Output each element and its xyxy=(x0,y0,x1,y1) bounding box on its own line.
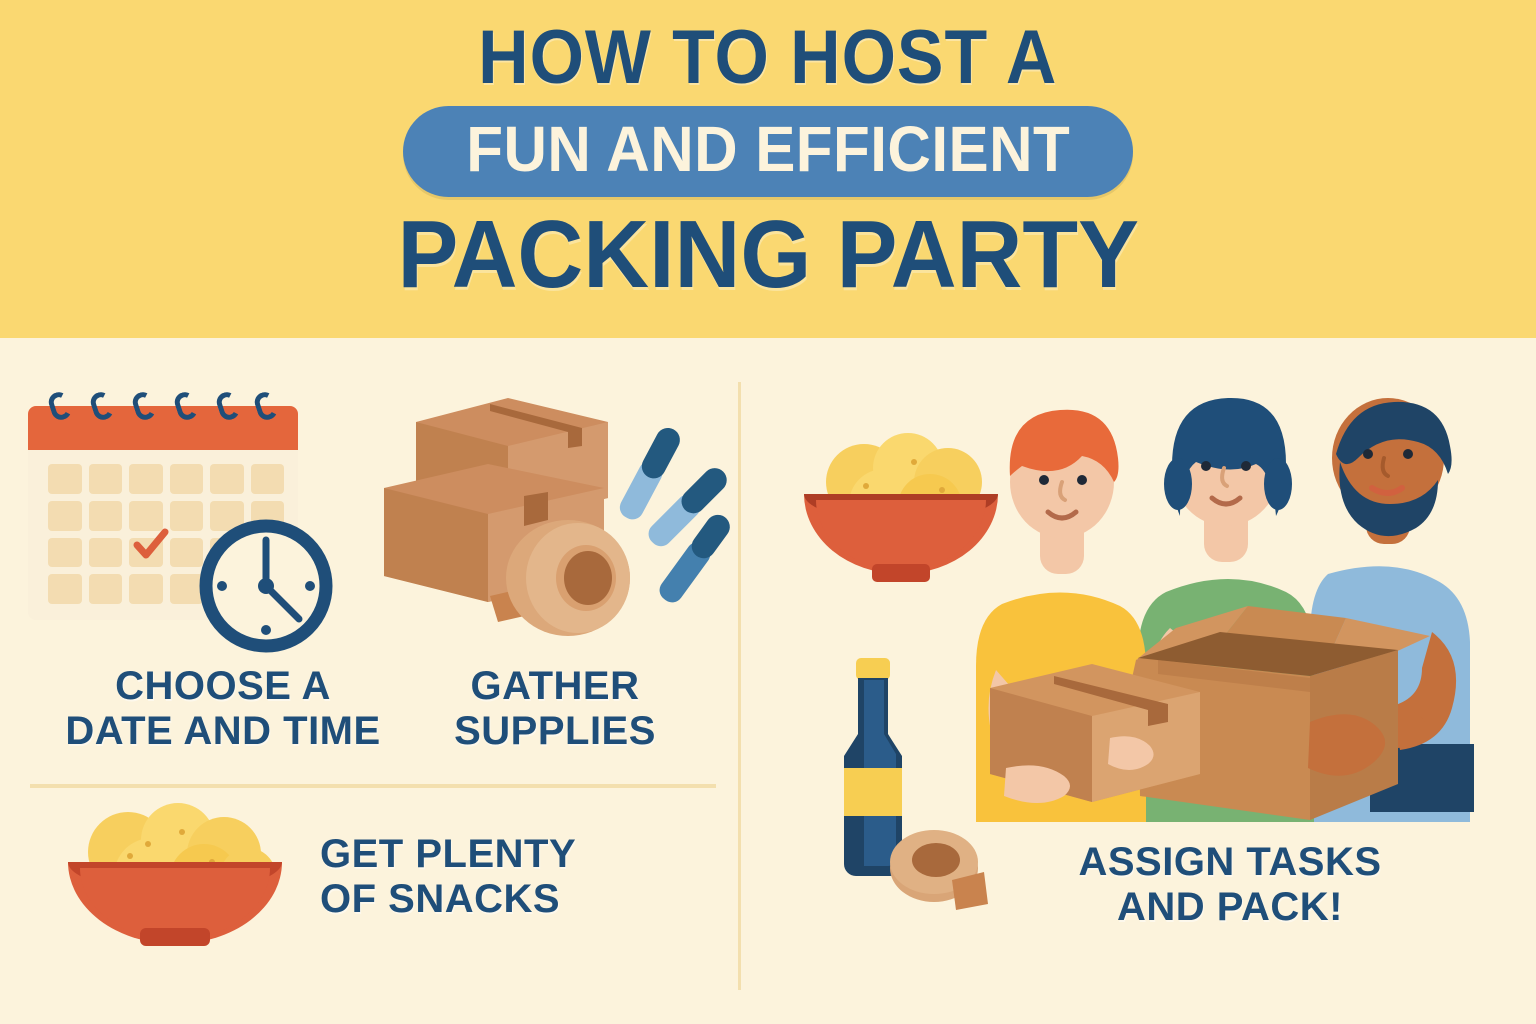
header-band: HOW TO HOST A FUN AND EFFICIENT PACKING … xyxy=(0,0,1536,338)
snack-bowl-icon xyxy=(52,800,298,948)
bottle-icon xyxy=(844,658,902,876)
title-highlight-pill: FUN AND EFFICIENT xyxy=(403,106,1134,197)
gather-supplies-illustration xyxy=(372,380,712,640)
step-label-get-snacks: GET PLENTY OF SNACKS xyxy=(320,832,680,922)
check-mark-icon xyxy=(134,530,168,560)
clock-icon xyxy=(196,516,336,656)
horizontal-divider xyxy=(30,784,716,788)
vertical-divider xyxy=(738,382,741,990)
page-title-line-1: HOW TO HOST A xyxy=(478,18,1057,98)
people-packing-icon xyxy=(980,392,1500,812)
infographic-poster: HOW TO HOST A FUN AND EFFICIENT PACKING … xyxy=(0,0,1536,1024)
step-label-choose-date: CHOOSE A DATE AND TIME xyxy=(58,664,388,754)
bottle-and-tape-illustration xyxy=(812,654,992,906)
page-title-pill-text: FUN AND EFFICIENT xyxy=(466,116,1070,183)
step-label-assign-tasks: ASSIGN TASKS AND PACK! xyxy=(1020,840,1440,930)
page-title-line-3: PACKING PARTY xyxy=(397,207,1138,303)
step-label-gather-supplies: GATHER SUPPLIES xyxy=(420,664,690,754)
tape-roll-icon xyxy=(890,830,988,910)
snack-bowl-icon xyxy=(796,424,1006,592)
marker-icon xyxy=(616,424,735,607)
